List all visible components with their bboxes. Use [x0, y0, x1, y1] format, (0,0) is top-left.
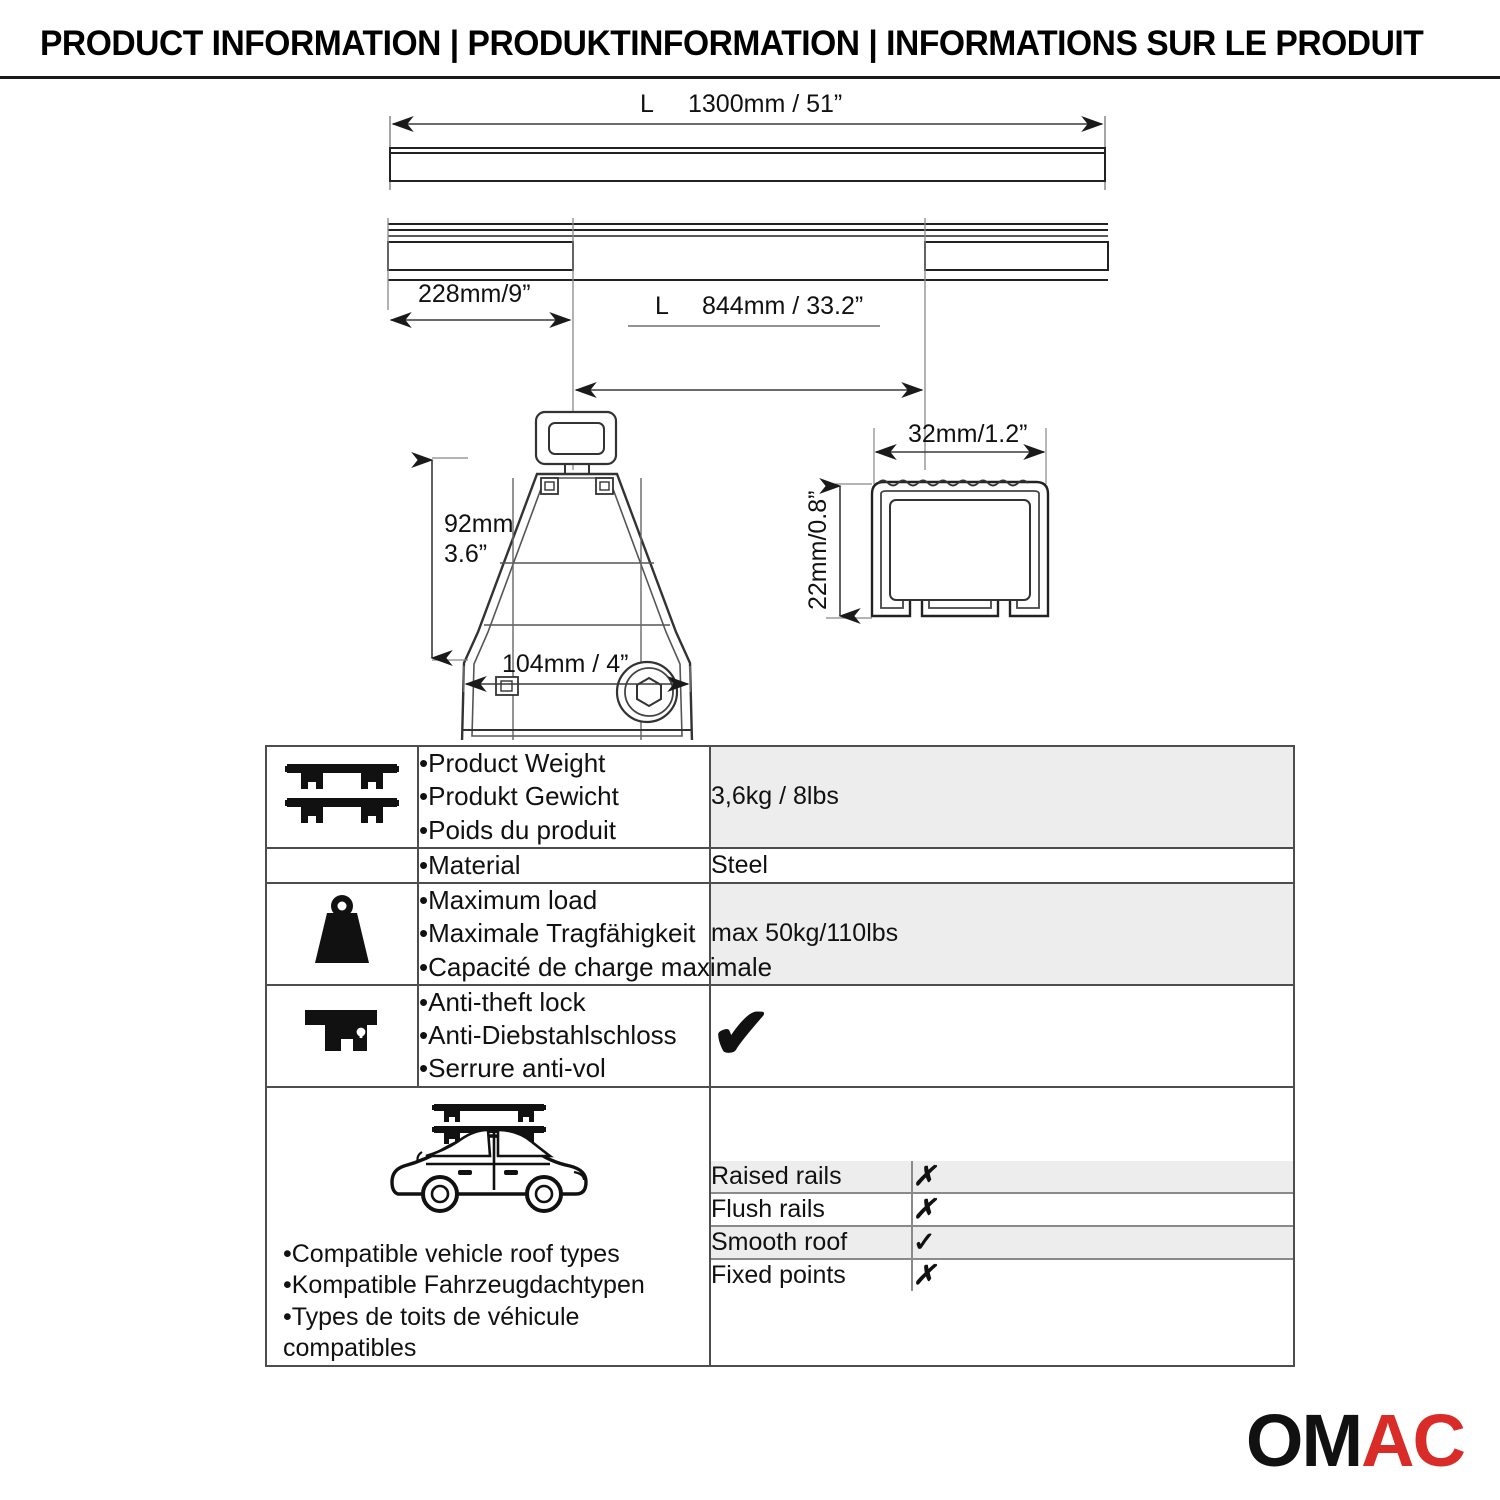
dim-profile-width-value: 32mm/1.2”: [908, 420, 1027, 448]
foot-front-view: [462, 412, 692, 740]
omac-logo: OMAC: [1246, 1404, 1464, 1478]
roof-type-mark-fixed: ✗: [912, 1259, 1293, 1291]
product-weight-label-en: •Product Weight: [419, 747, 709, 780]
dim-total-prefix: L: [640, 90, 654, 118]
compatibility-label-cell: •Compatible vehicle roof types •Kompatib…: [266, 1087, 710, 1366]
compat-label-de: •Kompatible Fahrzeugdachtypen: [283, 1270, 709, 1302]
max-load-value: max 50kg/110lbs: [710, 883, 1294, 985]
profile-cross-section: [872, 481, 1048, 617]
bar-top-view: [390, 148, 1105, 181]
roof-type-row-flush: Flush rails ✗: [711, 1193, 1293, 1226]
dim-spread-value: 844mm / 33.2”: [702, 292, 863, 320]
anti-theft-label-cell: •Anti-theft lock •Anti-Diebstahlschloss …: [418, 985, 710, 1087]
compat-label-fr-cont: compatibles: [283, 1333, 709, 1365]
max-load-label-en: •Maximum load: [419, 884, 709, 917]
product-weight-label-fr: •Poids du produit: [419, 814, 709, 847]
table-row-compatibility: •Compatible vehicle roof types •Kompatib…: [266, 1087, 1294, 1366]
weight-icon: [307, 945, 377, 973]
table-row: •Product Weight •Produkt Gewicht •Poids …: [266, 746, 1294, 848]
roof-type-row-smooth: Smooth roof ✓: [711, 1226, 1293, 1259]
title-divider: [0, 76, 1500, 79]
weight-icon-cell: [266, 883, 418, 985]
roof-type-row-raised: Raised rails ✗: [711, 1161, 1293, 1193]
technical-drawing: L 1300mm / 51”: [0, 80, 1500, 740]
roof-types-cell: Raised rails ✗ Flush rails ✗: [710, 1087, 1294, 1366]
material-label: •Material: [419, 849, 709, 882]
dim-foot-height-line2: 3.6”: [444, 540, 487, 568]
compat-label-en: •Compatible vehicle roof types: [283, 1239, 709, 1271]
product-weight-label-cell: •Product Weight •Produkt Gewicht •Poids …: [418, 746, 710, 848]
cross-icon: ✗: [913, 1260, 936, 1290]
dim-foot-width-value: 104mm / 4”: [502, 650, 628, 678]
compat-label-fr: •Types de toits de véhicule: [283, 1302, 709, 1334]
dim-total-value: 1300mm / 51”: [688, 90, 842, 118]
car-with-bars-icon: [267, 1088, 709, 1239]
roof-type-label-smooth: Smooth roof: [711, 1226, 912, 1259]
roof-type-mark-smooth: ✓: [912, 1226, 1293, 1259]
table-row: •Anti-theft lock •Anti-Diebstahlschloss …: [266, 985, 1294, 1087]
crossbars-icon-cell: [266, 746, 418, 848]
roof-type-row-fixed: Fixed points ✗: [711, 1259, 1293, 1291]
check-icon: ✓: [913, 1227, 936, 1257]
material-label-cell: •Material: [418, 848, 710, 883]
cross-icon: ✗: [913, 1161, 936, 1191]
omac-logo-part-black: OM: [1246, 1399, 1361, 1482]
dim-spread-prefix: L: [655, 292, 669, 320]
max-load-label-de: •Maximale Tragfähigkeit: [419, 917, 709, 950]
product-weight-value: 3,6kg / 8lbs: [710, 746, 1294, 848]
dim-profile-height-value: 22mm/0.8”: [804, 491, 832, 610]
omac-logo-part-red: AC: [1361, 1399, 1464, 1482]
lock-foot-icon: [299, 1038, 385, 1066]
table-row: •Material Steel: [266, 848, 1294, 883]
lock-foot-icon-cell: [266, 985, 418, 1087]
roof-type-label-raised: Raised rails: [711, 1161, 912, 1193]
material-value: Steel: [710, 848, 1294, 883]
max-load-label-fr: •Capacité de charge maximale: [419, 951, 709, 984]
max-load-label-cell: •Maximum load •Maximale Tragfähigkeit •C…: [418, 883, 710, 985]
dim-foot-height-line1: 92mm: [444, 510, 513, 538]
roof-type-mark-flush: ✗: [912, 1193, 1293, 1226]
page-title: PRODUCT INFORMATION | PRODUKTINFORMATION…: [40, 24, 1403, 64]
anti-theft-label-de: •Anti-Diebstahlschloss: [419, 1019, 709, 1052]
product-weight-label-de: •Produkt Gewicht: [419, 780, 709, 813]
roof-type-label-flush: Flush rails: [711, 1193, 912, 1226]
table-row: •Maximum load •Maximale Tragfähigkeit •C…: [266, 883, 1294, 985]
crossbars-icon: [283, 804, 401, 832]
dim-overhang-value: 228mm/9”: [418, 280, 531, 308]
anti-theft-value-cell: ✔: [710, 985, 1294, 1087]
specification-table: •Product Weight •Produkt Gewicht •Poids …: [265, 745, 1295, 1367]
anti-theft-label-en: •Anti-theft lock: [419, 986, 709, 1019]
anti-theft-check-icon: ✔: [711, 1006, 771, 1064]
product-information-page: PRODUCT INFORMATION | PRODUKTINFORMATION…: [0, 0, 1500, 1500]
material-icon-cell: [266, 848, 418, 883]
roof-type-label-fixed: Fixed points: [711, 1259, 912, 1291]
roof-type-mark-raised: ✗: [912, 1161, 1293, 1193]
cross-icon: ✗: [913, 1194, 936, 1224]
roof-types-table: Raised rails ✗ Flush rails ✗: [711, 1161, 1293, 1291]
anti-theft-label-fr: •Serrure anti-vol: [419, 1052, 709, 1085]
